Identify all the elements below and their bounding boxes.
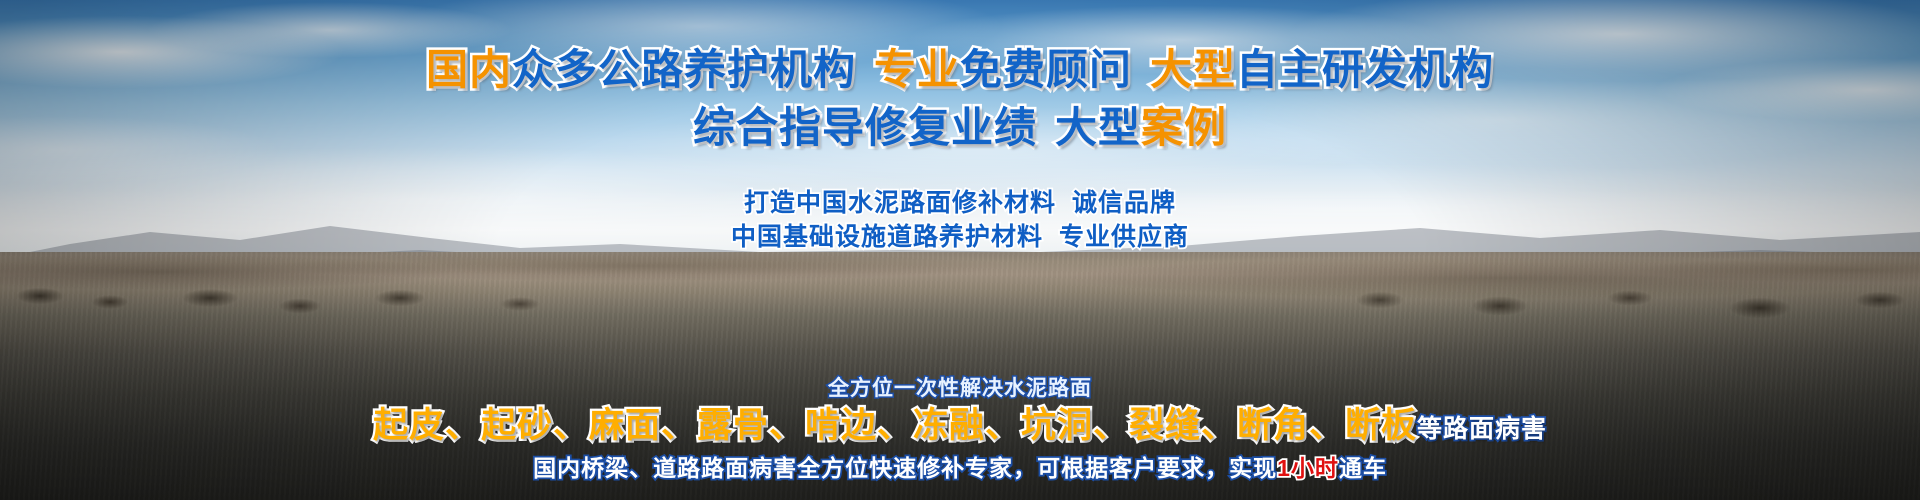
bottom-line3-tail: 通车 [1339,455,1387,481]
mid-line2-main: 中国基础设施道路养护材料 [731,223,1043,251]
mid-text-line-1: 打造中国水泥路面修补材料诚信品牌 [0,186,1920,220]
defect-suffix: 等路面病害 [1417,415,1547,443]
mid-line2-tail: 专业供应商 [1059,223,1189,251]
headline-seg-guonei: 国内 [426,46,512,93]
bottom-line3-main: 国内桥梁、道路路面病害全方位快速修补专家，可根据客户要求，实现 [533,455,1277,481]
mid-line1-main: 打造中国水泥路面修补材料 [744,189,1056,217]
promo-banner: 国内众多公路养护机构专业免费顾问大型自主研发机构 综合指导修复业绩大型案例 打造… [0,0,1920,500]
banner-content: 国内众多公路养护机构专业免费顾问大型自主研发机构 综合指导修复业绩大型案例 打造… [0,0,1920,500]
headline-seg-daxing2: 大型 [1055,104,1141,151]
bottom-line-2: 起皮、起砂、麻面、露骨、啃边、冻融、坑洞、裂缝、断角、断板等路面病害 [0,403,1920,452]
defect-list: 起皮、起砂、麻面、露骨、啃边、冻融、坑洞、裂缝、断角、断板 [373,406,1417,445]
headline-line-1: 国内众多公路养护机构专业免费顾问大型自主研发机构 [0,44,1920,96]
mid-line1-tail: 诚信品牌 [1072,189,1176,217]
headline-seg-anli: 案例 [1141,104,1227,151]
mid-text-block: 打造中国水泥路面修补材料诚信品牌 中国基础设施道路养护材料专业供应商 [0,186,1920,254]
mid-text-line-2: 中国基础设施道路养护材料专业供应商 [0,220,1920,254]
bottom-line3-hour: 1小时 [1277,455,1339,481]
bottom-line-1: 全方位一次性解决水泥路面 [0,375,1920,403]
bottom-line-3: 国内桥梁、道路路面病害全方位快速修补专家，可根据客户要求，实现1小时通车 [0,452,1920,484]
headline-seg-zhongduo: 众多公路养护机构 [512,46,856,93]
headline-seg-daxing: 大型 [1150,46,1236,93]
headline-line-2: 综合指导修复业绩大型案例 [0,102,1920,154]
headline-seg-zhuanye: 专业 [874,46,960,93]
headline-seg-zonghe: 综合指导修复业绩 [693,104,1037,151]
headline-seg-zizhu: 自主研发机构 [1236,46,1494,93]
headline-seg-mianfei: 免费顾问 [960,46,1132,93]
bottom-text-block: 全方位一次性解决水泥路面 起皮、起砂、麻面、露骨、啃边、冻融、坑洞、裂缝、断角、… [0,375,1920,484]
